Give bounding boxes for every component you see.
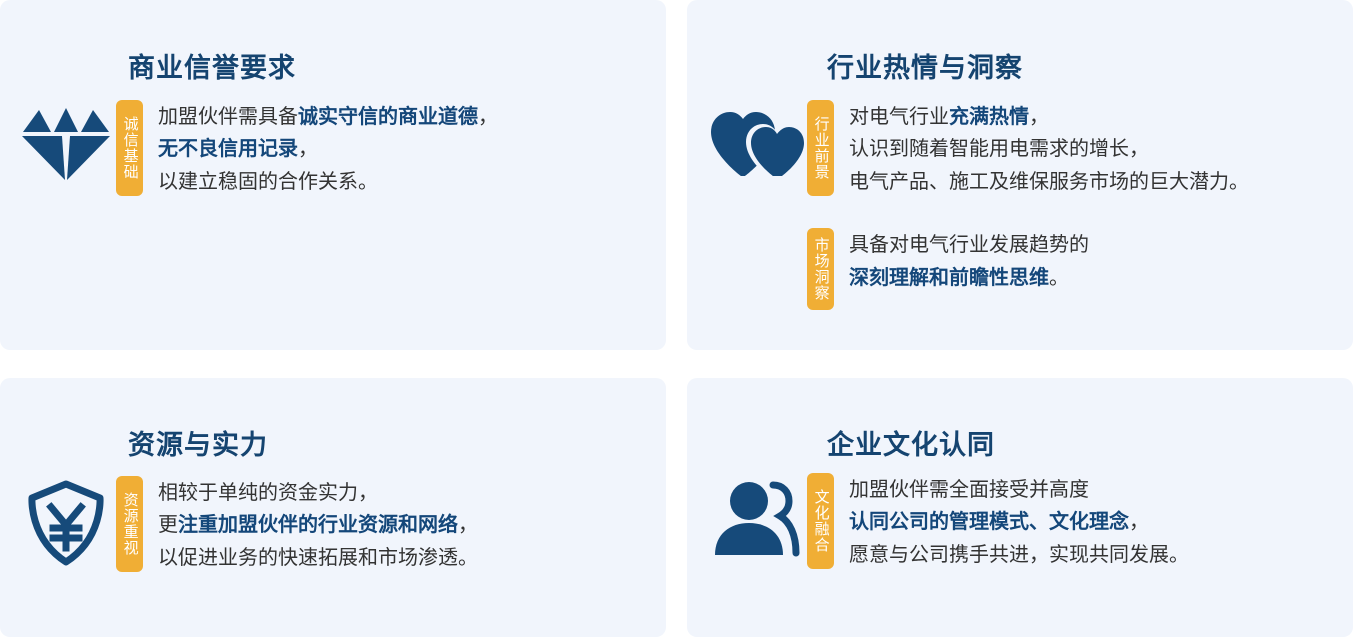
content-blocks: 文化融合 加盟伙伴需全面接受并高度 认同公司的管理模式、文化理念， 愿意与公司携… (807, 473, 1189, 571)
text-line: 具备对电气行业发展趋势的 (849, 229, 1089, 261)
text-line: 加盟伙伴需全面接受并高度 (849, 474, 1189, 506)
text-line: 以促进业务的快速拓展和市场渗透。 (158, 542, 478, 574)
hearts-icon (707, 100, 807, 184)
text-line: 愿意与公司携手共进，实现共同发展。 (849, 539, 1189, 571)
feature-card-grid: 商业信誉要求 (0, 0, 1353, 637)
block-gap (807, 198, 1249, 228)
card-resources-strength: 资源与实力 资源重视 相较于单纯 (0, 378, 666, 637)
block-lines: 加盟伙伴需全面接受并高度 认同公司的管理模式、文化理念， 愿意与公司携手共进，实… (849, 473, 1189, 571)
text-line: 电气产品、施工及维保服务市场的巨大潜力。 (849, 166, 1249, 198)
card-title: 企业文化认同 (827, 423, 995, 462)
content-blocks: 诚信基础 加盟伙伴需具备诚实守信的商业道德， 无不良信用记录， 以建立稳固的合作… (116, 100, 498, 198)
block-lines: 对电气行业充满热情， 认识到随着智能用电需求的增长， 电气产品、施工及维保服务市… (849, 100, 1249, 198)
text-line: 以建立稳固的合作关系。 (158, 166, 498, 198)
card-content: 行业前景 对电气行业充满热情， 认识到随着智能用电需求的增长， 电气产品、施工及… (707, 100, 1249, 310)
content-block: 市场洞察 具备对电气行业发展趋势的 深刻理解和前瞻性思维。 (807, 228, 1249, 310)
block-badge: 诚信基础 (116, 100, 143, 196)
text-line: 认识到随着智能用电需求的增长， (849, 133, 1249, 165)
card-industry-passion: 行业热情与洞察 行业前景 对电气行业充满热情， 认识到随着智能用电需求的增长， … (687, 0, 1353, 350)
text-line: 深刻理解和前瞻性思维。 (849, 262, 1089, 294)
block-badge: 资源重视 (116, 476, 143, 572)
block-badge: 文化融合 (807, 473, 834, 569)
card-business-reputation: 商业信誉要求 (0, 0, 666, 350)
card-content: 文化融合 加盟伙伴需全面接受并高度 认同公司的管理模式、文化理念， 愿意与公司携… (707, 473, 1189, 571)
card-title: 资源与实力 (128, 423, 268, 462)
content-blocks: 行业前景 对电气行业充满热情， 认识到随着智能用电需求的增长， 电气产品、施工及… (807, 100, 1249, 310)
shield-yuan-icon (16, 476, 116, 566)
content-blocks: 资源重视 相较于单纯的资金实力， 更注重加盟伙伴的行业资源和网络， 以促进业务的… (116, 476, 478, 574)
block-lines: 具备对电气行业发展趋势的 深刻理解和前瞻性思维。 (849, 228, 1089, 294)
text-line: 无不良信用记录， (158, 133, 498, 165)
block-badge: 市场洞察 (807, 228, 834, 310)
block-badge: 行业前景 (807, 100, 834, 196)
text-line: 加盟伙伴需具备诚实守信的商业道德， (158, 101, 498, 133)
content-block: 诚信基础 加盟伙伴需具备诚实守信的商业道德， 无不良信用记录， 以建立稳固的合作… (116, 100, 498, 198)
text-line: 相较于单纯的资金实力， (158, 477, 478, 509)
text-line: 对电气行业充满热情， (849, 101, 1249, 133)
block-lines: 相较于单纯的资金实力， 更注重加盟伙伴的行业资源和网络， 以促进业务的快速拓展和… (158, 476, 478, 574)
content-block: 行业前景 对电气行业充满热情， 认识到随着智能用电需求的增长， 电气产品、施工及… (807, 100, 1249, 198)
card-content: 诚信基础 加盟伙伴需具备诚实守信的商业道德， 无不良信用记录， 以建立稳固的合作… (16, 100, 498, 198)
text-line: 更注重加盟伙伴的行业资源和网络， (158, 509, 478, 541)
card-title: 商业信誉要求 (128, 46, 296, 85)
card-content: 资源重视 相较于单纯的资金实力， 更注重加盟伙伴的行业资源和网络， 以促进业务的… (16, 476, 478, 574)
text-line: 认同公司的管理模式、文化理念， (849, 506, 1189, 538)
people-icon (707, 473, 807, 565)
diamond-icon (16, 100, 116, 184)
content-block: 文化融合 加盟伙伴需全面接受并高度 认同公司的管理模式、文化理念， 愿意与公司携… (807, 473, 1189, 571)
block-lines: 加盟伙伴需具备诚实守信的商业道德， 无不良信用记录， 以建立稳固的合作关系。 (158, 100, 498, 198)
card-title: 行业热情与洞察 (827, 46, 1023, 85)
card-culture-identity: 企业文化认同 文化融合 加盟伙伴需全面接受并高度 认同公司的管理模式、文化理念，… (687, 378, 1353, 637)
content-block: 资源重视 相较于单纯的资金实力， 更注重加盟伙伴的行业资源和网络， 以促进业务的… (116, 476, 478, 574)
